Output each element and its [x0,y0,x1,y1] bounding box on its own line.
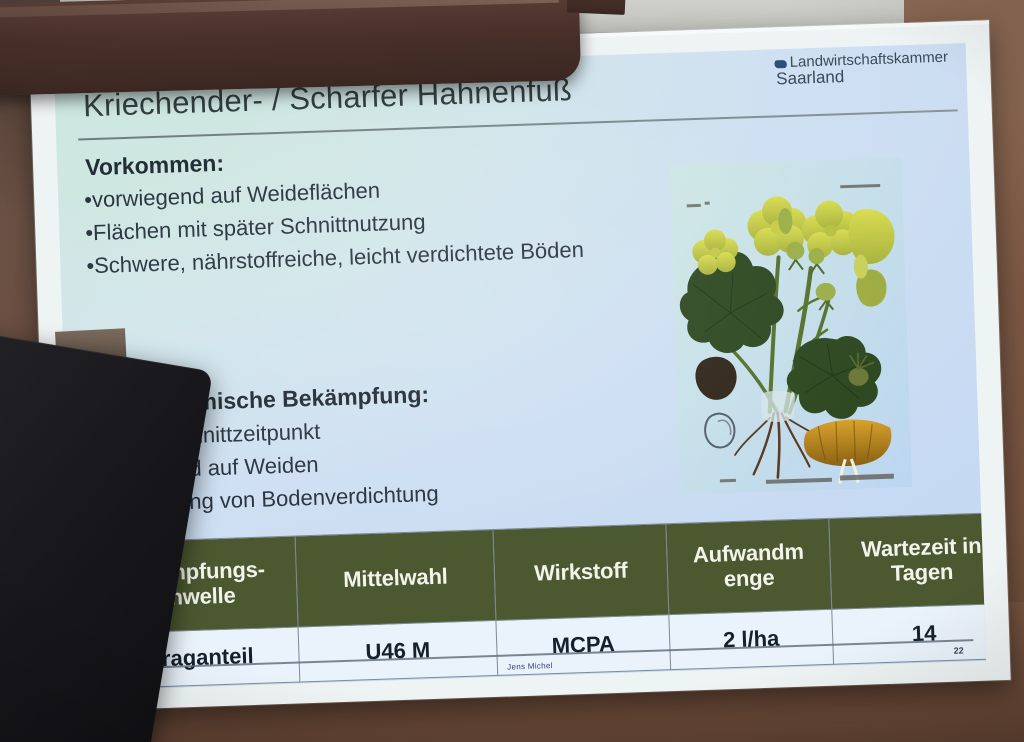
table-header-wirkstoff: Wirkstoff [493,524,669,621]
bullet-vorkommen-2: •Flächen mit später Schnittnutzung [85,209,426,246]
photographed-presentation-scene: Kriechender- / Scharfer Hahnenfuß Landwi… [0,0,1024,742]
bullet-vorkommen-1: •vorwiegend auf Weideflächen [84,178,381,214]
table-header-wartezeit: Wartezeit in Tagen [829,512,986,609]
organization-logo: Landwirtschaftskammer Saarland [773,50,948,88]
table-header-mittelwahl: Mittelwahl [295,529,496,627]
ranunculus-botanical-plate [669,157,912,495]
table-header-aufwandmenge: Aufwandm enge [666,518,832,614]
slide-surface: Kriechender- / Scharfer Hahnenfuß Landwi… [54,43,986,691]
roller-mount-arm [567,0,626,15]
section-heading-vorkommen: Vorkommen: [85,150,225,182]
roller-highlight [0,0,559,18]
slide-page-number: 22 [953,645,963,655]
leaf-mark-icon [773,60,788,69]
projector-screen-roller-housing [0,0,581,96]
